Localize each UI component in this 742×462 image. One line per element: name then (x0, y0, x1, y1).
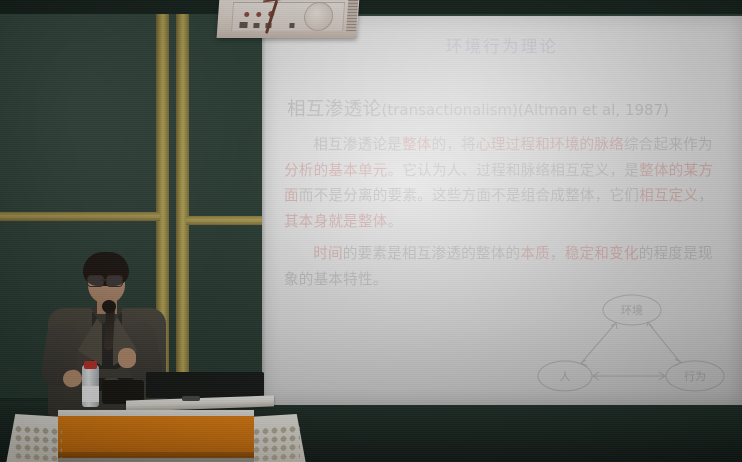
lecturer-glasses-left-lens (87, 275, 104, 287)
podium-vent-holes-left (14, 424, 62, 461)
slide-text-highlight: 稳定和变化 (565, 245, 639, 262)
slide-text-run: 的要素是相互渗透的整体的 (343, 245, 521, 262)
lecturer-glasses-right-lens (106, 275, 123, 287)
monitor-rear (146, 372, 264, 398)
diagram-node-person: 人 (560, 370, 571, 383)
lecture-podium (6, 400, 306, 462)
slide-text-run: 相互渗透论是 (313, 136, 402, 153)
slide-text-highlight: 分析的基本单元 (284, 162, 388, 179)
projection-screen: 环境行为理论 相互渗透论(transactionalism)(Altman et… (262, 16, 742, 405)
projector-port-1 (239, 22, 247, 28)
slide-text-highlight: 时间 (313, 245, 343, 262)
board-frame-horizontal-left (0, 212, 160, 221)
slide-heading: 相互渗透论(transactionalism)(Altman et al, 19… (287, 95, 669, 121)
lecturer-glasses-bridge (101, 279, 107, 281)
diagram-node-environment: 环境 (621, 303, 643, 317)
board-frame-horizontal-right (186, 216, 272, 225)
lecturer-right-hand (118, 348, 136, 368)
slide-body-text: 相互渗透论是整体的，将心理过程和环境的脉络综合起来作为分析的基本单元。它认为人、… (284, 132, 720, 299)
slide-heading-citation: (transactionalism)(Altman et al, 1987) (382, 101, 669, 119)
triad-diagram: 环境 人 行为 (537, 288, 727, 403)
slide-text-highlight: 相互定义 (639, 187, 698, 204)
slide-heading-cjk: 相互渗透论 (287, 99, 382, 120)
slide-text-run: ， (698, 187, 713, 204)
screen-left-edge (262, 16, 266, 405)
ceiling-projector (217, 0, 360, 38)
slide-text-run: 。它认为人、过程和脉络相互定义，是 (388, 162, 640, 179)
lecture-hall-photo: 环境行为理论 相互渗透论(transactionalism)(Altman et… (0, 0, 742, 462)
microphone-head (102, 300, 116, 313)
projector-port-2 (253, 23, 259, 28)
slide-text-run: 的，将 (432, 136, 476, 153)
slide-text-highlight: 整体 (402, 136, 432, 153)
podium-vent-holes-right (252, 424, 300, 461)
podium-base (58, 458, 254, 462)
slide-text-highlight: 本质 (520, 245, 550, 262)
slide-text-run: 综合起来作为 (624, 136, 713, 153)
slide-text-run: 。 (388, 213, 403, 230)
water-bottle-cap (84, 361, 97, 369)
slide-text-run: ， (550, 245, 565, 262)
projector-vent (346, 0, 358, 32)
slide-paragraph: 相互渗透论是整体的，将心理过程和环境的脉络综合起来作为分析的基本单元。它认为人、… (284, 132, 720, 234)
slide-paragraph: 时间的要素是相互渗透的整体的本质，稳定和变化的程度是现象的基本特性。 (284, 241, 720, 292)
slide-text-highlight: 其本身就是整体 (284, 213, 388, 230)
slide-text-highlight: 心理过程和环境的脉络 (476, 136, 624, 153)
slide-text-run: 而不是分离的要素。这些方面不是组合成整体，它们 (299, 187, 639, 204)
projector-port-4 (289, 23, 294, 28)
diagram-node-behavior: 行为 (684, 370, 706, 383)
